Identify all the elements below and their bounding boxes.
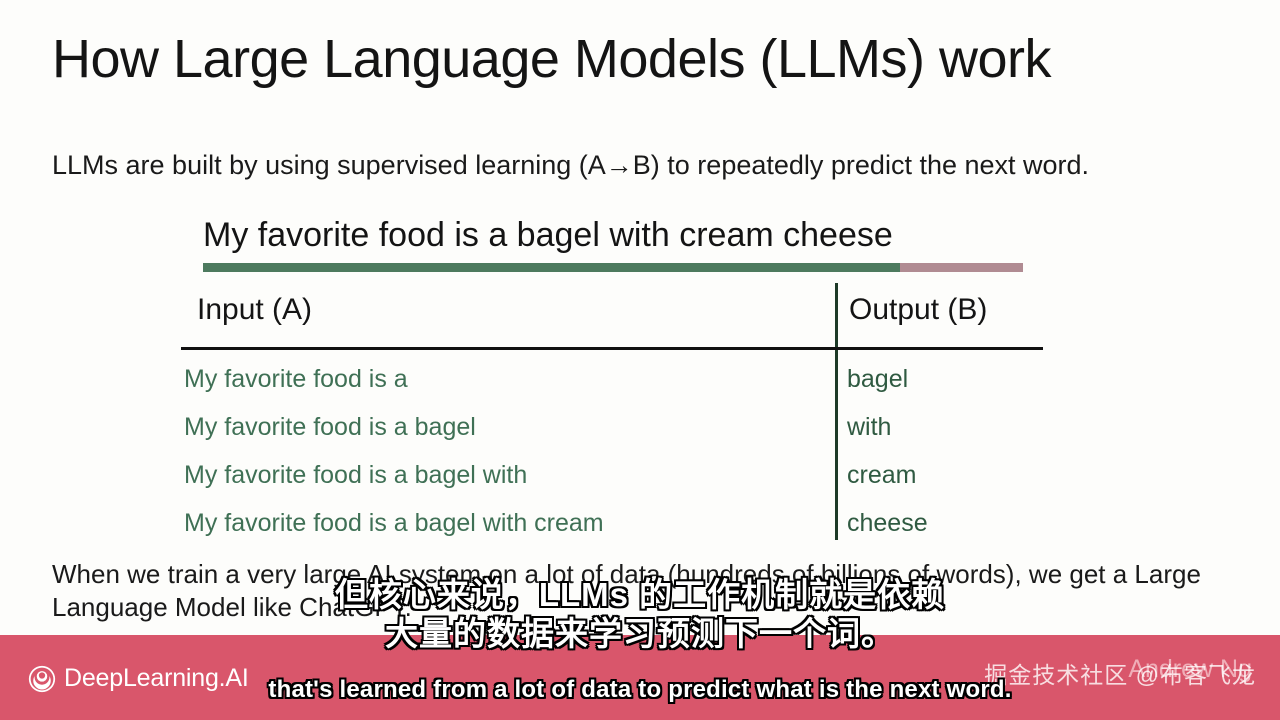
table-cell-output: cheese [847, 509, 928, 538]
underline-green-segment [203, 263, 900, 272]
table-row: My favorite food is a bagel with cream c… [181, 509, 1043, 557]
table-cell-output: cream [847, 461, 916, 490]
lead-paragraph: LLMs are built by using supervised learn… [52, 150, 1089, 181]
subtitle-chinese: 但核心来说，LLMs 的工作机制就是依赖 大量的数据来学习预测下一个词。 [0, 576, 1280, 654]
table-row: My favorite food is a bagel with [181, 413, 1043, 461]
table-header-row: Input (A) Output (B) [181, 283, 1043, 345]
table-row: My favorite food is a bagel with cream [181, 461, 1043, 509]
page-title: How Large Language Models (LLMs) work [52, 28, 1051, 90]
table-header-input: Input (A) [197, 293, 312, 327]
table-cell-input: My favorite food is a bagel with [184, 461, 527, 490]
table-cell-input: My favorite food is a bagel [184, 413, 476, 442]
table-cell-input: My favorite food is a bagel with cream [184, 509, 604, 538]
table-header-output: Output (B) [849, 293, 987, 327]
underline-mauve-segment [900, 263, 1023, 272]
table-row: My favorite food is a bagel [181, 365, 1043, 413]
table-cell-input: My favorite food is a [184, 365, 408, 394]
example-sentence: My favorite food is a bagel with cream c… [203, 216, 1033, 255]
table-cell-output: bagel [847, 365, 908, 394]
example-sentence-block: My favorite food is a bagel with cream c… [203, 216, 1033, 255]
slide-canvas: How Large Language Models (LLMs) work LL… [0, 0, 1280, 720]
subtitle-chinese-line-2: 大量的数据来学习预测下一个词。 [0, 615, 1280, 654]
example-sentence-underline [203, 263, 1023, 272]
table-cell-output: with [847, 413, 891, 442]
subtitle-english: that's learned from a lot of data to pre… [0, 676, 1280, 704]
subtitle-chinese-line-1: 但核心来说，LLMs 的工作机制就是依赖 [0, 576, 1280, 615]
table-header-rule [181, 347, 1043, 350]
